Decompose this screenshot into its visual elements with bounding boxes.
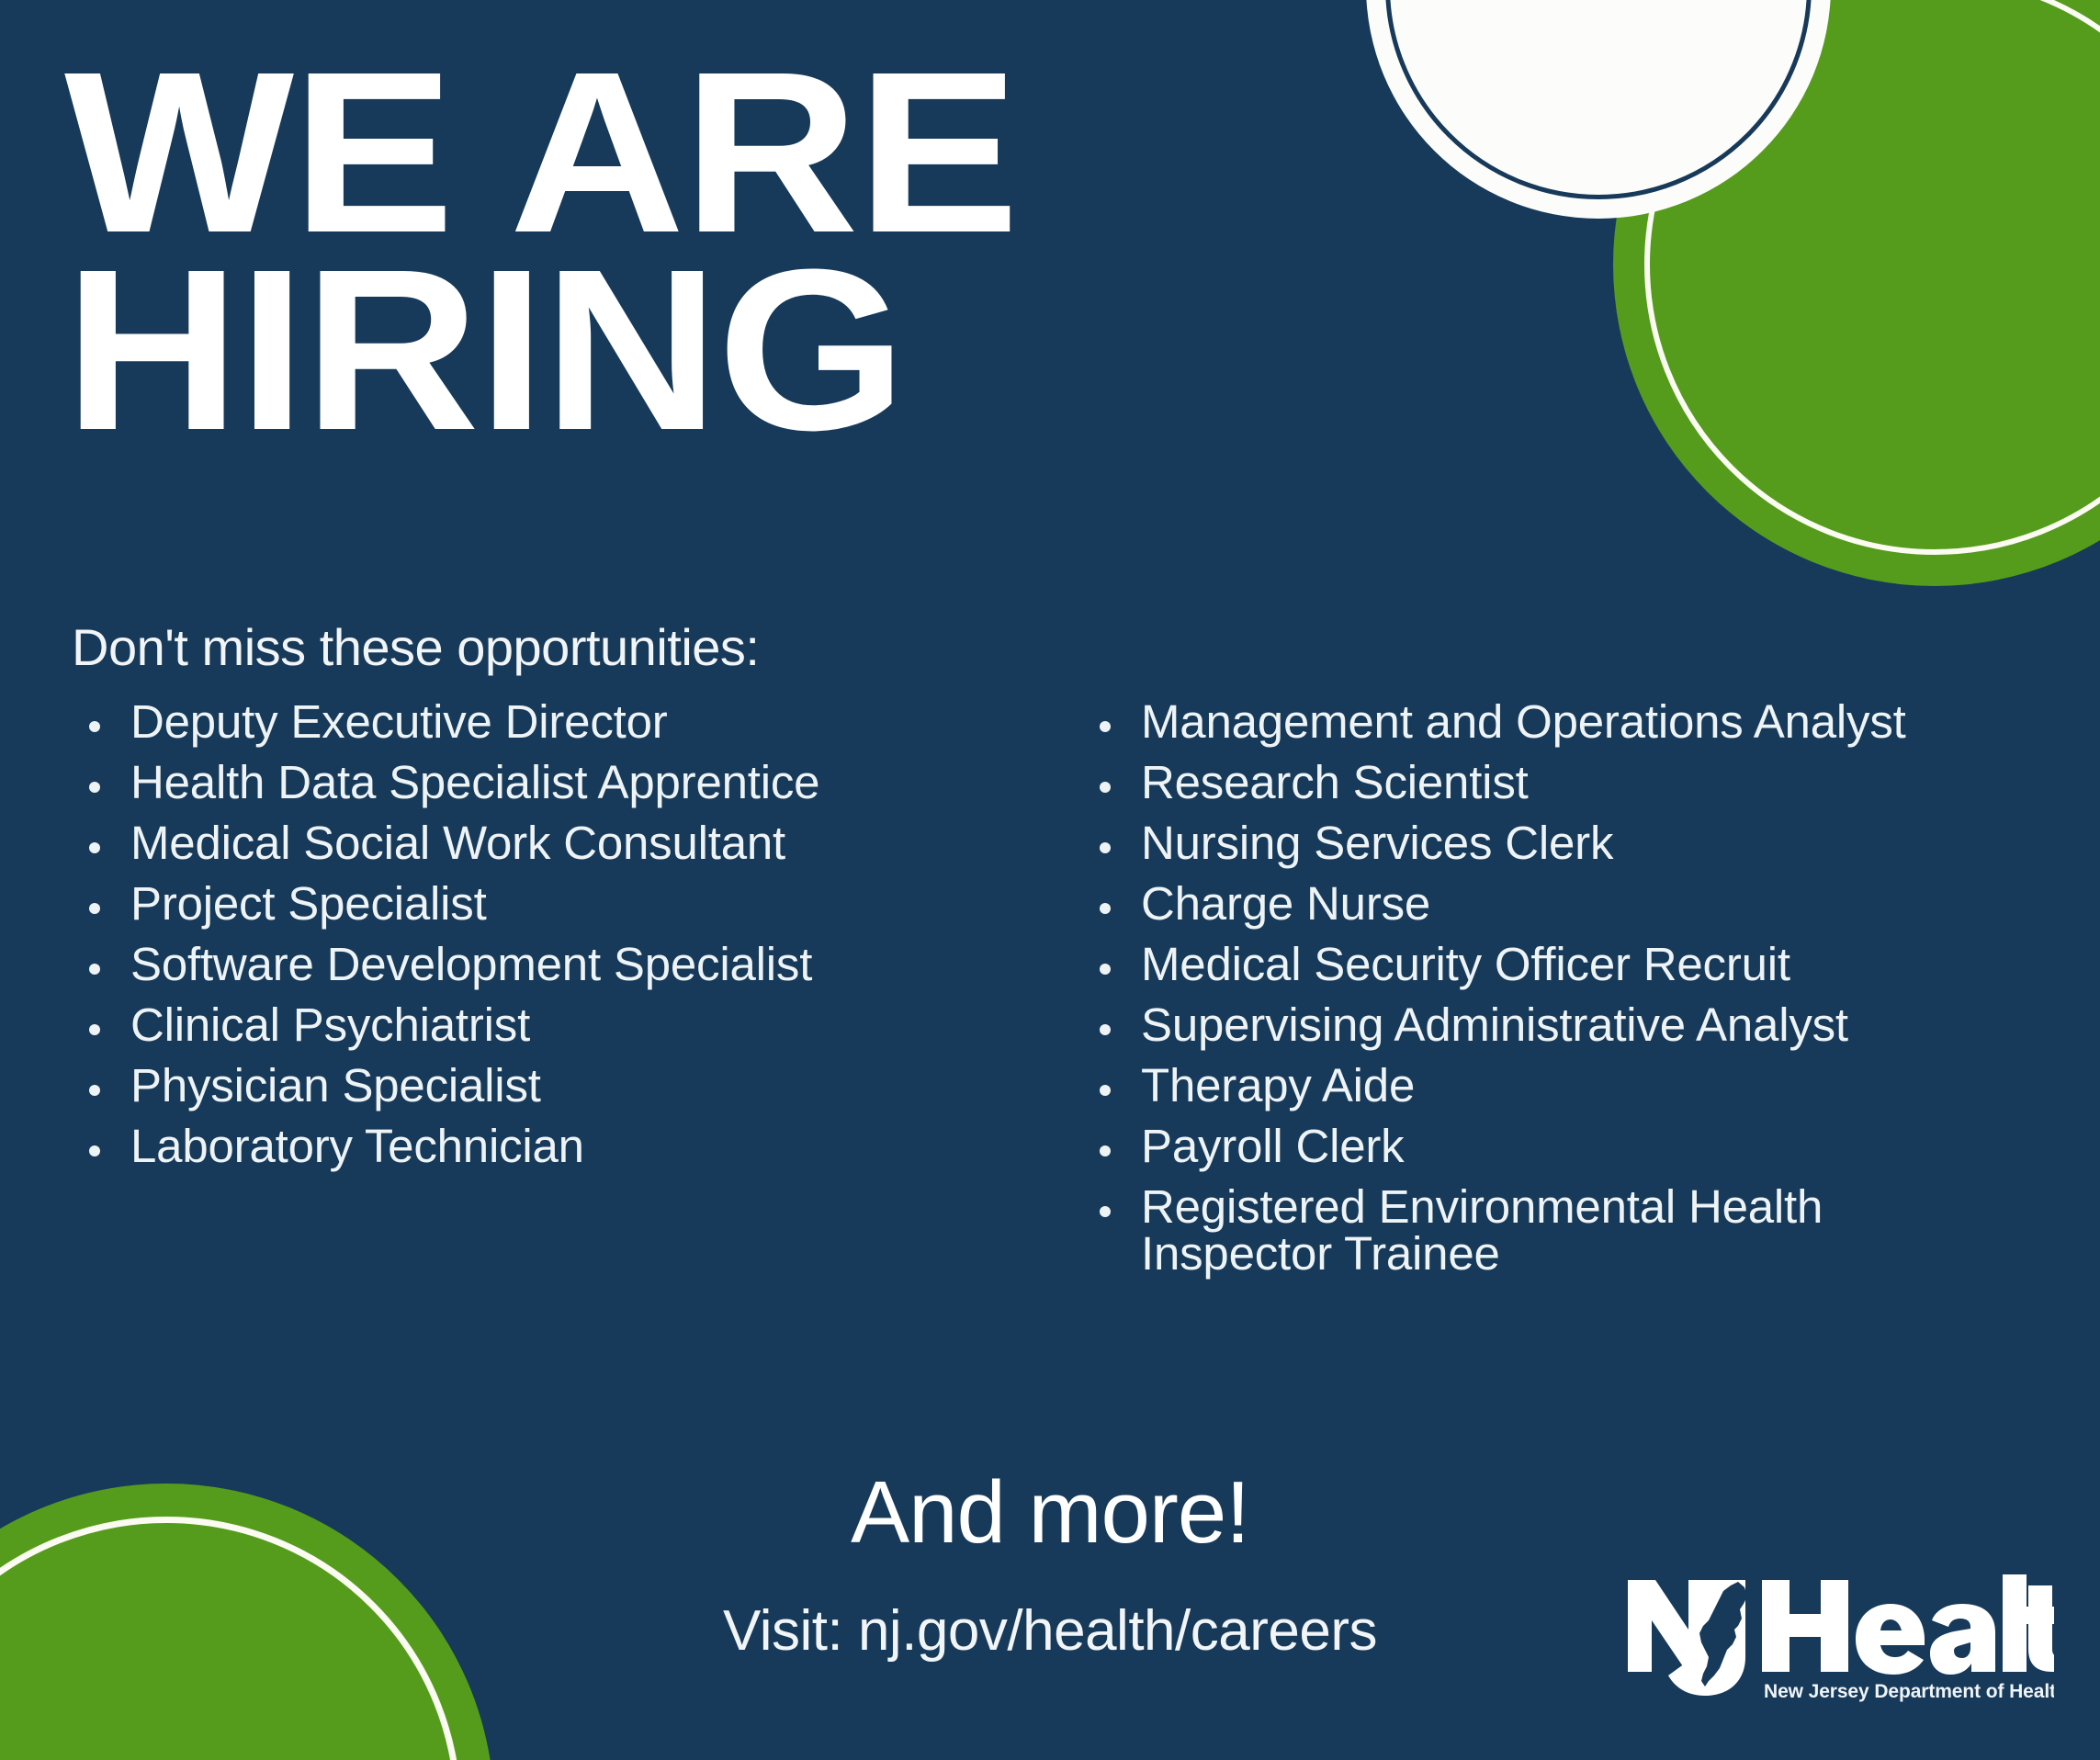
list-item[interactable]: Medical Social Work Consultant — [64, 819, 1010, 866]
job-listings: Deputy Executive Director Health Data Sp… — [64, 698, 2067, 1291]
list-item[interactable]: Supervising Administrative Analyst — [1075, 1001, 2021, 1048]
list-item[interactable]: Health Data Specialist Apprentice — [64, 759, 1010, 806]
logo-tagline: New Jersey Department of Health — [1764, 1681, 2054, 1702]
nj-health-logo: New Jersey Department of Health — [1624, 1573, 2054, 1710]
list-item[interactable]: Registered Environmental Health Inspecto… — [1075, 1183, 2021, 1277]
list-item[interactable]: Laboratory Technician — [64, 1123, 1010, 1169]
job-column-right: Management and Operations Analyst Resear… — [1075, 698, 2021, 1291]
list-item[interactable]: Project Specialist — [64, 880, 1010, 927]
list-item[interactable]: Medical Security Officer Recruit — [1075, 941, 2021, 987]
list-item[interactable]: Software Development Specialist — [64, 941, 1010, 987]
job-column-left: Deputy Executive Director Health Data Sp… — [64, 698, 1010, 1291]
job-list-right: Management and Operations Analyst Resear… — [1075, 698, 2021, 1277]
headline-line-2: HIRING — [64, 251, 1330, 448]
hiring-poster: WE ARE HIRING Don't miss these opportuni… — [0, 0, 2100, 1760]
page-title: WE ARE HIRING — [64, 53, 1330, 448]
list-item[interactable]: Physician Specialist — [64, 1062, 1010, 1109]
list-item[interactable]: Clinical Psychiatrist — [64, 1001, 1010, 1048]
list-item[interactable]: Payroll Clerk — [1075, 1123, 2021, 1169]
list-item[interactable]: Nursing Services Clerk — [1075, 819, 2021, 866]
list-item[interactable]: Management and Operations Analyst — [1075, 698, 2021, 745]
job-list-left: Deputy Executive Director Health Data Sp… — [64, 698, 1010, 1169]
and-more-text: And more! — [0, 1462, 2100, 1563]
list-item[interactable]: Research Scientist — [1075, 759, 2021, 806]
list-item[interactable]: Deputy Executive Director — [64, 698, 1010, 745]
list-item[interactable]: Therapy Aide — [1075, 1062, 2021, 1109]
list-item[interactable]: Charge Nurse — [1075, 880, 2021, 927]
subheading: Don't miss these opportunities: — [72, 617, 759, 677]
